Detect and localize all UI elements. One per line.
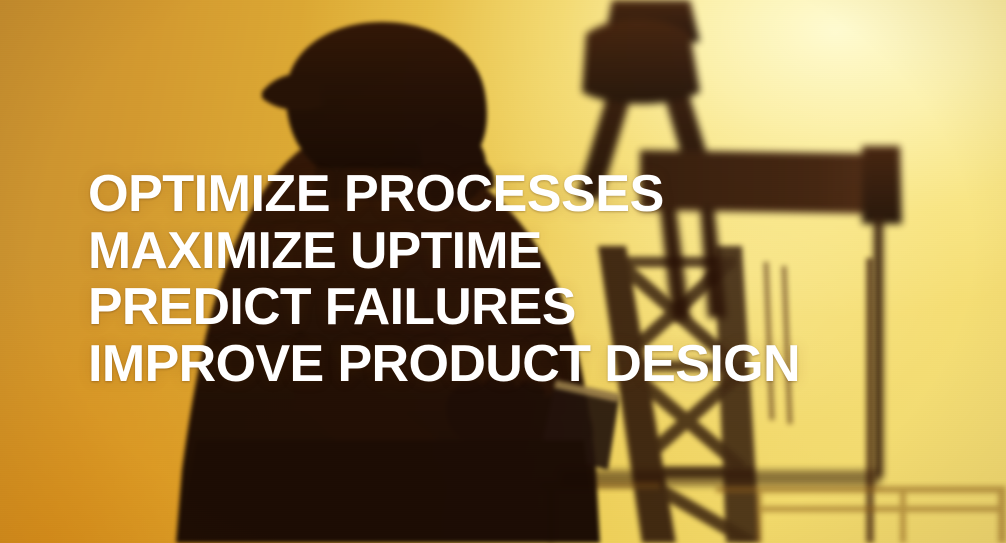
banner-image: OPTIMIZE PROCESSES MAXIMIZE UPTIME PREDI… [0,0,1006,543]
headline-block: OPTIMIZE PROCESSES MAXIMIZE UPTIME PREDI… [88,166,988,392]
headline-line-2: MAXIMIZE UPTIME [88,223,984,280]
headline-line-1: OPTIMIZE PROCESSES [88,166,993,223]
headline-line-3: PREDICT FAILURES [88,279,984,336]
headline-line-4: IMPROVE PRODUCT DESIGN [88,336,988,393]
